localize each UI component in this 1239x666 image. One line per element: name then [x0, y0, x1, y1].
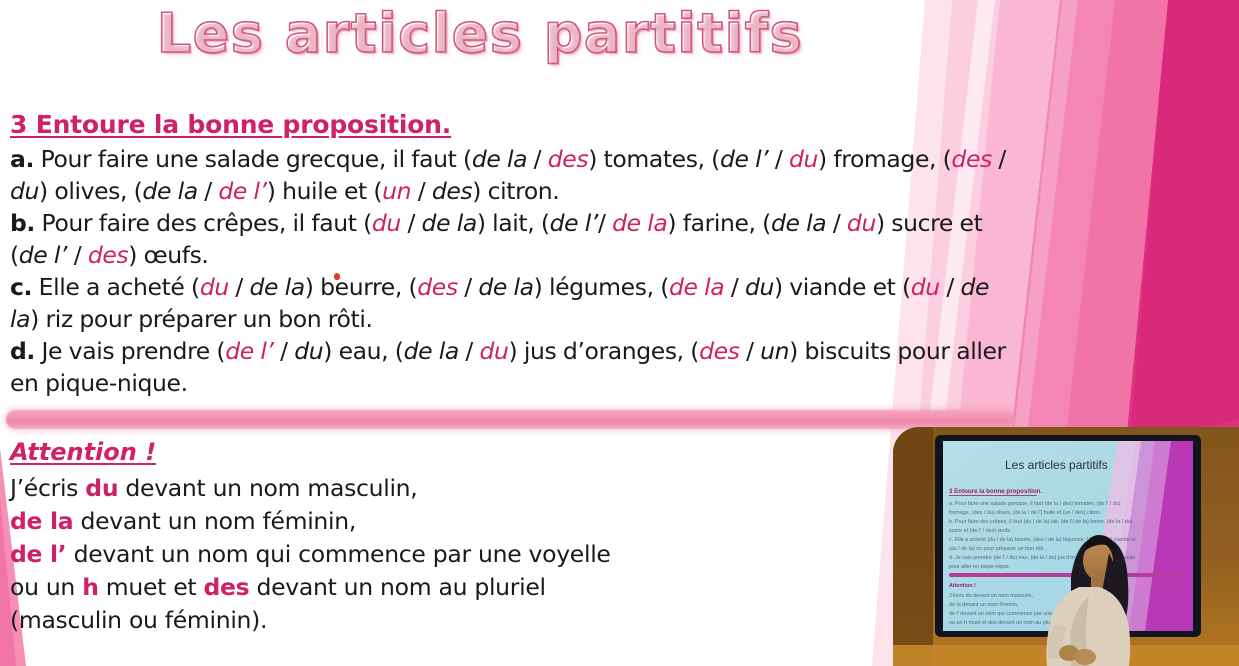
- highlighted-article: des: [203, 573, 249, 601]
- attention-text: devant un nom féminin,: [73, 507, 356, 535]
- answer-option: de la: [771, 209, 826, 237]
- answer-option-correct: des: [699, 337, 739, 365]
- exercise-item: b. Pour faire des crêpes, il faut (du / …: [10, 207, 1010, 271]
- answer-option-correct: du: [847, 209, 876, 237]
- attention-text: devant un nom au pluriel: [249, 573, 545, 601]
- answer-option-correct: de l’: [218, 177, 266, 205]
- exercise-item: d. Je vais prendre (de l’ / du) eau, (de…: [10, 335, 1010, 399]
- title-container: Les articles partitifs: [0, 2, 960, 65]
- exercise-text: /: [67, 241, 88, 269]
- answer-option: de l’: [720, 145, 768, 173]
- highlighted-article: de l’: [10, 540, 66, 568]
- section-divider: [6, 410, 1014, 429]
- exercise-text: /: [992, 145, 1006, 173]
- exercise-text: /: [724, 273, 745, 301]
- highlighted-article: du: [85, 474, 118, 502]
- exercise-item-letter: c.: [10, 273, 32, 301]
- answer-option-correct: de la: [669, 273, 724, 301]
- exercise-item: c. Elle a acheté (du / de la) beurre, (d…: [10, 271, 1010, 335]
- exercise-text: ) œufs.: [128, 241, 208, 269]
- exercise-text: /: [940, 273, 961, 301]
- attention-text: muet et: [99, 573, 204, 601]
- answer-option-correct: un: [382, 177, 411, 205]
- exercise-item-list: a. Pour faire une salade grecque, il fau…: [10, 143, 1010, 399]
- attention-text: devant un nom masculin,: [118, 474, 417, 502]
- attention-section: Attention ! J’écris du devant un nom mas…: [10, 438, 890, 637]
- exercise-text: ) eau, (: [323, 337, 403, 365]
- exercise-item: a. Pour faire une salade grecque, il fau…: [10, 143, 1010, 207]
- exercise-text: /: [768, 145, 789, 173]
- answer-option: de l’: [19, 241, 67, 269]
- exercise-text: /: [459, 337, 480, 365]
- exercise-text: ) viande et (: [774, 273, 911, 301]
- exercise-section: 3 Entoure la bonne proposition. a. Pour …: [10, 110, 1010, 399]
- exercise-text: Pour faire une salade grecque, il faut (: [34, 145, 472, 173]
- answer-option: du: [10, 177, 39, 205]
- exercise-text: ) citron.: [472, 177, 559, 205]
- answer-option: de la: [478, 273, 533, 301]
- answer-option-correct: du: [480, 337, 509, 365]
- exercise-text: Je vais prendre (: [35, 337, 225, 365]
- laser-pointer-dot: [334, 273, 340, 280]
- exercise-text: /: [198, 177, 219, 205]
- answer-option: un: [760, 337, 789, 365]
- attention-text: ou un: [10, 573, 82, 601]
- answer-option-correct: des: [951, 145, 991, 173]
- answer-option-correct: des: [88, 241, 128, 269]
- exercise-item-letter: b.: [10, 209, 35, 237]
- answer-option-correct: du: [911, 273, 940, 301]
- attention-rule-line: J’écris du devant un nom masculin,: [10, 472, 890, 505]
- exercise-text: ) riz pour préparer un bon rôti.: [30, 305, 372, 333]
- answer-option: du: [294, 337, 323, 365]
- answer-option-correct: du: [372, 209, 401, 237]
- answer-option-correct: du: [789, 145, 818, 173]
- attention-text: (masculin ou féminin).: [10, 606, 267, 634]
- answer-option: des: [432, 177, 472, 205]
- answer-option-correct: de l’: [225, 337, 273, 365]
- highlighted-article: de la: [10, 507, 73, 535]
- exercise-text: /: [527, 145, 548, 173]
- attention-text: J’écris: [10, 474, 85, 502]
- answer-option: de la: [142, 177, 197, 205]
- attention-text: devant un nom qui commence par une voyel…: [66, 540, 610, 568]
- attention-rule-line: (masculin ou féminin).: [10, 604, 890, 637]
- attention-rule-list: J’écris du devant un nom masculin,de la …: [10, 472, 890, 637]
- answer-option: de la: [472, 145, 527, 173]
- answer-option-correct: des: [548, 145, 588, 173]
- page-title: Les articles partitifs: [157, 2, 803, 65]
- attention-rule-line: ou un h muet et des devant un nom au plu…: [10, 571, 890, 604]
- exercise-text: Elle a acheté (: [32, 273, 200, 301]
- exercise-text: /: [826, 209, 847, 237]
- answer-option: de l’: [550, 209, 598, 237]
- exercise-text: ) beurre, (: [305, 273, 417, 301]
- exercise-text: /: [598, 209, 612, 237]
- exercise-text: /: [458, 273, 479, 301]
- exercise-text: /: [229, 273, 250, 301]
- exercise-item-letter: d.: [10, 337, 35, 365]
- exercise-text: Pour faire des crêpes, il faut (: [35, 209, 372, 237]
- exercise-text: /: [401, 209, 422, 237]
- answer-option-correct: des: [417, 273, 457, 301]
- answer-option: de la: [250, 273, 305, 301]
- slide-canvas: Les articles partitifs 3 Entoure la bonn…: [0, 0, 1239, 666]
- exercise-text: ) jus d’oranges, (: [509, 337, 700, 365]
- attention-rule-line: de l’ devant un nom qui commence par une…: [10, 538, 890, 571]
- exercise-text: ) lait, (: [477, 209, 550, 237]
- exercise-text: ) légumes, (: [534, 273, 669, 301]
- exercise-text: ) olives, (: [39, 177, 142, 205]
- exercise-text: /: [740, 337, 761, 365]
- exercise-text: ) farine, (: [667, 209, 771, 237]
- exercise-text: /: [411, 177, 432, 205]
- answer-option-correct: de la: [612, 209, 667, 237]
- attention-rule-line: de la devant un nom féminin,: [10, 505, 890, 538]
- answer-option: de la: [422, 209, 477, 237]
- exercise-text: ) huile et (: [267, 177, 382, 205]
- answer-option: de la: [404, 337, 459, 365]
- presenter-video-frame: Les articles partitifs 3 Entoure la bonn…: [893, 427, 1239, 666]
- answer-option-correct: du: [200, 273, 229, 301]
- highlighted-article: h: [82, 573, 98, 601]
- answer-option: du: [745, 273, 774, 301]
- exercise-text: ) tomates, (: [588, 145, 720, 173]
- exercise-text: ) fromage, (: [818, 145, 951, 173]
- presenter-video-overlay[interactable]: Les articles partitifs 3 Entoure la bonn…: [893, 427, 1239, 666]
- exercise-heading: 3 Entoure la bonne proposition.: [10, 110, 1010, 139]
- exercise-item-letter: a.: [10, 145, 34, 173]
- exercise-text: /: [274, 337, 295, 365]
- attention-title: Attention !: [10, 438, 890, 466]
